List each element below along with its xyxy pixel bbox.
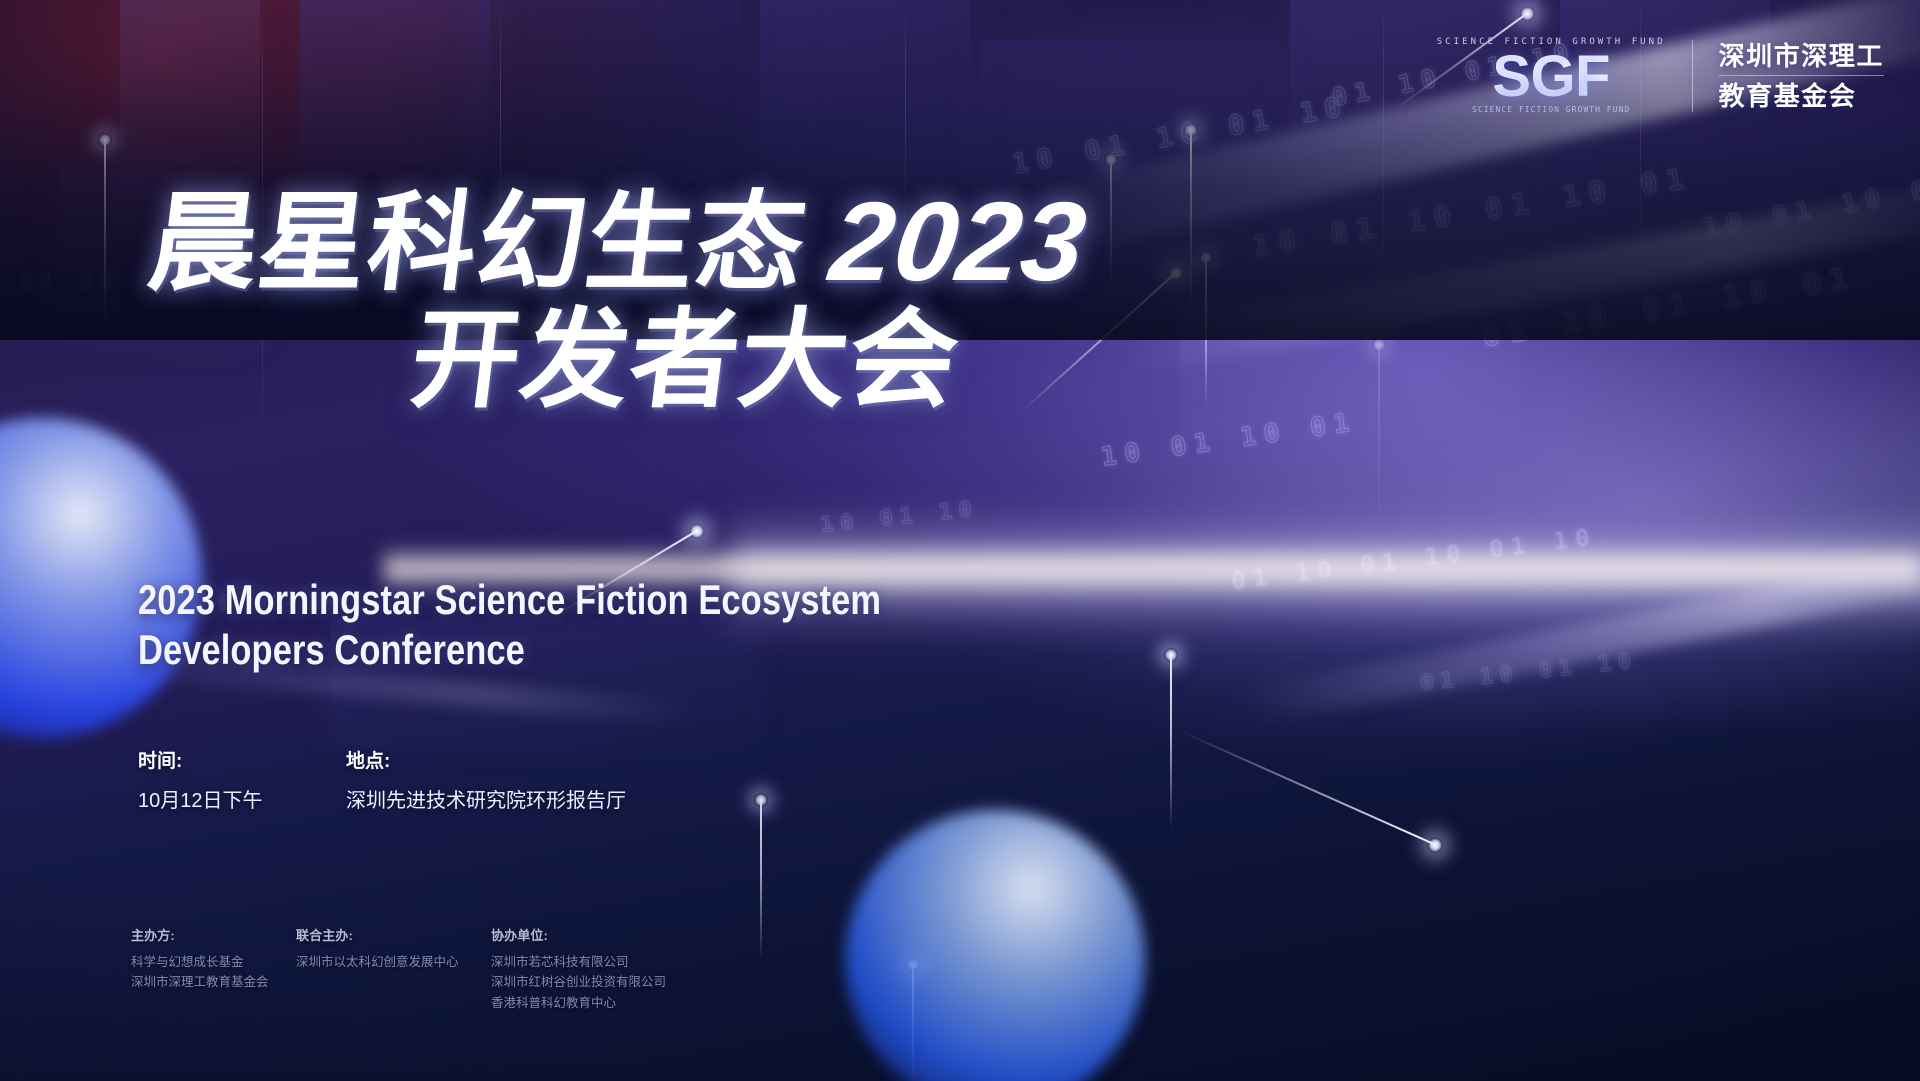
title-year: 2023 <box>824 179 1093 304</box>
glow-pole <box>912 965 914 1081</box>
binary-row: 01 10 01 10 01 10 <box>1230 523 1599 596</box>
glow-pole <box>1110 160 1112 290</box>
conference-poster: 10 01 10 01 10 01 10 01 10 10 01 10 01 1… <box>0 0 1920 1081</box>
binary-row: 01 10 01 10 01 <box>1480 261 1860 355</box>
binary-row: 10 01 10 01 <box>1099 407 1359 473</box>
spheres <box>0 0 1920 1081</box>
binary-row: 10 01 10 01 10 <box>1010 91 1351 181</box>
foundation-line2: 教育基金会 <box>1719 81 1884 112</box>
light-beams <box>0 0 1920 1081</box>
sphere-bottom <box>845 810 1145 1081</box>
time-label: 时间: <box>138 746 310 773</box>
foundation-name: 深圳市深理工 教育基金会 <box>1719 41 1884 112</box>
poster-title: 晨星科幻生态2023 开发者大会 <box>150 185 1085 415</box>
organizer-cohost: 联合主办: 深圳市以太科幻创意发展中心 <box>296 925 491 1013</box>
horizontal-light-band <box>730 508 1920 638</box>
background-grid <box>0 0 1920 1081</box>
logo-divider <box>1692 40 1693 112</box>
event-time: 时间: 10月12日下午 <box>138 746 310 813</box>
support-item: 香港科普科幻教育中心 <box>491 993 666 1013</box>
light-streak <box>1116 178 1920 376</box>
event-place: 地点: 深圳先进技术研究院环形报告厅 <box>346 746 626 813</box>
support-item: 深圳市若芯科技有限公司 <box>491 952 666 972</box>
glow-pole <box>104 140 106 330</box>
place-label: 地点: <box>346 746 626 773</box>
light-streak <box>1236 545 1920 727</box>
glow-pole <box>1378 345 1380 535</box>
poster-subtitle: 2023 Morningstar Science Fiction Ecosyst… <box>138 575 881 674</box>
sgf-logo-acronym: SGF <box>1437 50 1666 103</box>
cohost-item: 深圳市以太科幻创意发展中心 <box>296 952 491 972</box>
organizer-support: 协办单位: 深圳市若芯科技有限公司 深圳市红树谷创业投资有限公司 香港科普科幻教… <box>491 925 666 1013</box>
place-value: 深圳先进技术研究院环形报告厅 <box>346 784 626 813</box>
host-item: 科学与幻想成长基金 <box>131 952 296 972</box>
sgf-logo-mark: SCIENCE FICTION GROWTH FUND SGF SCIENCE … <box>1437 38 1666 114</box>
binary-texture: 10 01 10 01 10 01 10 01 10 10 01 10 01 1… <box>0 0 1920 1081</box>
glow-ray <box>1180 730 1437 846</box>
binary-row: 10 01 10 01 10 01 <box>1700 146 1920 245</box>
sgf-logo-micro-bottom: SCIENCE FICTION GROWTH FUND <box>1437 106 1666 114</box>
cohost-label: 联合主办: <box>296 925 491 944</box>
glow-pole <box>1205 258 1207 408</box>
foundation-line1: 深圳市深理工 <box>1719 41 1884 72</box>
title-line-2: 开发者大会 <box>405 305 1092 415</box>
event-info: 时间: 10月12日下午 地点: 深圳先进技术研究院环形报告厅 <box>138 746 626 813</box>
background-blocks <box>0 0 1920 1081</box>
organizer-host: 主办方: 科学与幻想成长基金 深圳市深理工教育基金会 <box>131 925 296 1013</box>
glow-lines <box>0 0 1920 1081</box>
glow-pole <box>1170 655 1172 830</box>
sgf-logo: SCIENCE FICTION GROWTH FUND SGF SCIENCE … <box>1437 38 1884 114</box>
glow-pole <box>760 800 762 960</box>
binary-row: 10 01 10 <box>819 497 980 538</box>
binary-row: 10 01 10 01 10 01 <box>1250 160 1695 263</box>
title-line-1: 晨星科幻生态2023 <box>143 185 1092 299</box>
subtitle-line-1: 2023 Morningstar Science Fiction Ecosyst… <box>138 575 881 625</box>
host-item: 深圳市深理工教育基金会 <box>131 972 296 992</box>
binary-row: 01 10 01 10 <box>1419 649 1639 697</box>
subtitle-line-2: Developers Conference <box>138 625 881 675</box>
vignette <box>0 0 1920 1081</box>
organizer-block: 主办方: 科学与幻想成长基金 深圳市深理工教育基金会 联合主办: 深圳市以太科幻… <box>131 925 666 1013</box>
support-item: 深圳市红树谷创业投资有限公司 <box>491 972 666 992</box>
time-value: 10月12日下午 <box>138 784 310 813</box>
glow-pole <box>1190 130 1192 315</box>
support-label: 协办单位: <box>491 925 666 944</box>
host-label: 主办方: <box>131 925 296 944</box>
foundation-rule <box>1719 75 1884 76</box>
title-main-cn: 晨星科幻生态 <box>143 182 814 303</box>
